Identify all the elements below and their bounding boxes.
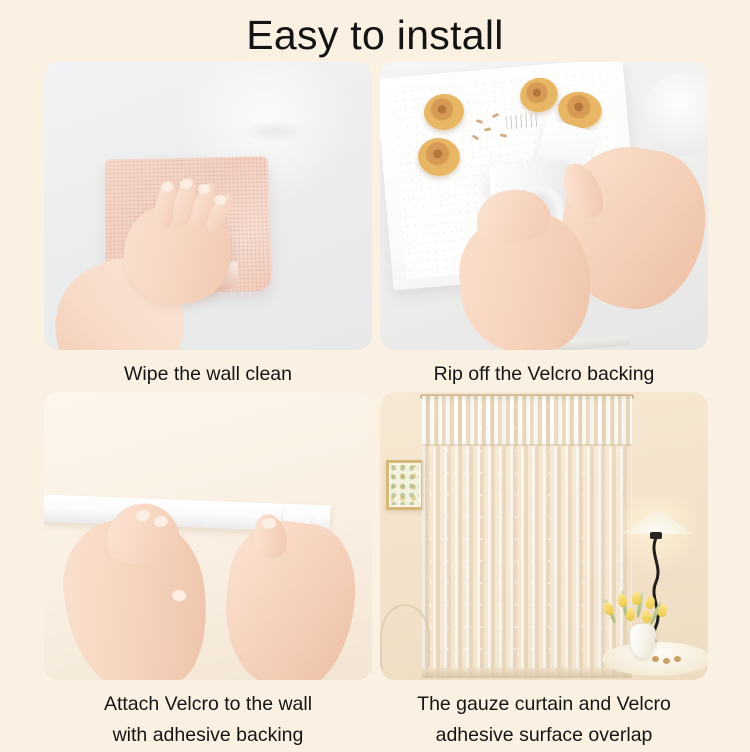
curtain-hem: [422, 668, 632, 678]
art-print: [391, 465, 419, 505]
wall-smudge: [241, 120, 307, 143]
chair-back: [380, 604, 430, 670]
caption-line: with adhesive backing: [44, 720, 372, 751]
step-photo-rip-velcro-backing: [380, 62, 708, 350]
nut: [674, 656, 681, 662]
step-card-4: The gauze curtain and Velcro adhesive su…: [380, 392, 708, 751]
steps-grid: Wipe the wall clean: [44, 62, 708, 752]
step-card-1: Wipe the wall clean: [44, 62, 372, 390]
step-caption-4: The gauze curtain and Velcro adhesive su…: [380, 689, 708, 751]
step-photo-wipe-wall: [44, 62, 372, 350]
tulip: [645, 595, 656, 609]
caption-line: Rip off the Velcro backing: [380, 359, 708, 390]
step-caption-1: Wipe the wall clean: [44, 359, 372, 390]
framed-botanical-art: [386, 460, 424, 510]
fingernail: [161, 182, 173, 192]
tulip: [641, 610, 651, 624]
step-card-2: Rip off the Velcro backing: [380, 62, 708, 390]
caption-line: The gauze curtain and Velcro: [380, 689, 708, 720]
step-caption-3: Attach Velcro to the wall with adhesive …: [44, 689, 372, 751]
yellow-tulip-bouquet: [598, 582, 678, 632]
caption-line: adhesive surface overlap: [380, 720, 708, 751]
step-caption-2: Rip off the Velcro backing: [380, 359, 708, 390]
tulip: [626, 608, 636, 622]
caption-line: Wipe the wall clean: [44, 359, 372, 390]
infographic-page: Easy to install Wipe: [0, 0, 750, 750]
nut: [663, 658, 670, 664]
fingernail: [180, 179, 192, 189]
decorative-nuts: [652, 656, 686, 664]
step-photo-gauze-curtain-overlap: [380, 392, 708, 680]
white-bowl: [642, 72, 708, 156]
right-hand: [216, 515, 363, 680]
fingernail: [214, 195, 226, 205]
caption-line: Attach Velcro to the wall: [44, 689, 372, 720]
step-photo-attach-velcro: [44, 392, 372, 680]
tulip: [632, 592, 641, 605]
step-card-3: Attach Velcro to the wall with adhesive …: [44, 392, 372, 751]
fingernail: [198, 184, 210, 194]
tulip: [617, 593, 628, 607]
curtain-valance: [422, 396, 632, 446]
nut: [652, 656, 659, 662]
page-title: Easy to install: [0, 11, 750, 59]
